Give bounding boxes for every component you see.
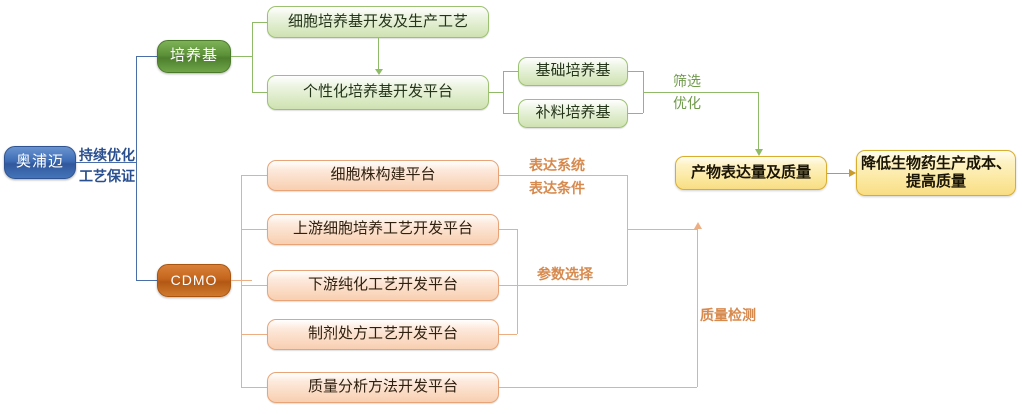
branch-head-culture-medium-label: 培养基 — [170, 47, 218, 65]
branch-head-culture-medium[interactable]: 培养基 — [157, 40, 231, 73]
connector-to-basal-medium — [503, 71, 518, 72]
connector-quality-up — [697, 229, 698, 387]
arrow-medium-into-output — [755, 149, 763, 156]
node-quality-analysis-platform[interactable]: 质量分析方法开发平台 — [267, 372, 499, 403]
connector-medium-stub — [231, 56, 252, 57]
node-product-output-quality[interactable]: 产物表达量及质量 — [675, 156, 827, 190]
connector-medium-bus — [252, 22, 253, 92]
edge-label-expression-system: 表达系统 — [529, 155, 585, 175]
connector-grandchild-bus — [503, 71, 504, 113]
connector-quality-out — [499, 387, 697, 388]
connector-formulation-out — [499, 334, 517, 335]
connector-blue-to-cdmo — [136, 280, 157, 281]
edge-label-parameter-selection: 参数选择 — [537, 264, 593, 284]
node-medium-development-process[interactable]: 细胞培养基开发及生产工艺 — [267, 6, 489, 38]
connector-cdmo-to-child-3 — [241, 285, 267, 286]
connector-medium-down-to-output — [758, 92, 759, 149]
node-feed-medium-label: 补料培养基 — [535, 104, 610, 122]
node-final-goal-label-line1: 降低生物药生产成本、 — [861, 155, 1011, 173]
node-product-output-quality-label: 产物表达量及质量 — [691, 164, 811, 182]
connector-feed-out — [628, 113, 643, 114]
connector-medium-to-child-2 — [252, 92, 267, 93]
node-feed-medium[interactable]: 补料培养基 — [518, 99, 628, 128]
node-formulation-platform[interactable]: 制剂处方工艺开发平台 — [267, 319, 499, 350]
root-node-label: 奥浦迈 — [16, 153, 64, 171]
connector-basal-out — [628, 71, 643, 72]
node-medium-development-process-label: 细胞培养基开发及生产工艺 — [288, 13, 468, 31]
connector-cdmo-to-child-1 — [241, 175, 267, 176]
connector-cdmo-to-child-4 — [241, 334, 267, 335]
arrow-cdmo-into-output — [694, 222, 702, 229]
node-custom-medium-platform-label: 个性化培养基开发平台 — [303, 83, 453, 101]
connector-mid-cluster-bus — [517, 229, 518, 334]
connector-cdmo-to-child-5 — [241, 387, 267, 388]
connector-cdmo-right-rail — [627, 175, 628, 285]
connector-mid-cluster-right — [517, 285, 627, 286]
node-cell-line-construction-platform[interactable]: 细胞株构建平台 — [267, 160, 499, 191]
connector-to-feed-medium — [503, 113, 518, 114]
node-cell-line-construction-platform-label: 细胞株构建平台 — [330, 166, 435, 184]
connector-upstream-out — [499, 229, 517, 230]
node-formulation-platform-label: 制剂处方工艺开发平台 — [308, 325, 458, 343]
connector-rail-to-output — [627, 229, 697, 230]
connector-custom-medium-stub — [489, 92, 503, 93]
edge-label-process-assurance: 工艺保证 — [79, 166, 135, 186]
node-downstream-purification-platform-label: 下游纯化工艺开发平台 — [308, 276, 458, 294]
node-basal-medium[interactable]: 基础培养基 — [518, 57, 628, 86]
arrow-medium-child1-to-child2 — [375, 69, 383, 75]
branch-head-cdmo-label: CDMO — [171, 272, 218, 289]
connector-blue-spine — [136, 56, 137, 280]
node-custom-medium-platform[interactable]: 个性化培养基开发平台 — [267, 75, 489, 110]
arrow-output-to-goal — [849, 169, 856, 177]
node-final-goal[interactable]: 降低生物药生产成本、 提高质量 — [856, 150, 1016, 196]
connector-cdmo-to-child-2 — [241, 229, 267, 230]
connector-medium-to-child-1 — [252, 22, 267, 23]
edge-label-continuous-optimization: 持续优化 — [79, 145, 135, 165]
edge-label-expression-condition: 表达条件 — [529, 178, 585, 198]
connector-cdmo-bus — [241, 175, 242, 387]
diagram-canvas: 奥浦迈 持续优化 工艺保证 培养基 细胞培养基开发及生产工艺 个性化培养基开发平… — [0, 0, 1022, 414]
node-basal-medium-label: 基础培养基 — [535, 62, 610, 80]
node-upstream-culture-platform-label: 上游细胞培养工艺开发平台 — [293, 220, 473, 238]
root-node-aopumai[interactable]: 奥浦迈 — [4, 146, 76, 179]
connector-blue-to-medium — [136, 56, 157, 57]
node-quality-analysis-platform-label: 质量分析方法开发平台 — [308, 378, 458, 396]
connector-cellline-out — [499, 175, 627, 176]
node-final-goal-label-line2: 提高质量 — [906, 173, 966, 191]
connector-medium-child1-to-child2 — [378, 38, 379, 69]
edge-label-quality-testing: 质量检测 — [700, 305, 756, 325]
node-downstream-purification-platform[interactable]: 下游纯化工艺开发平台 — [267, 270, 499, 301]
connector-output-to-goal — [827, 173, 849, 174]
edge-label-screening: 筛选 — [673, 71, 701, 91]
edge-label-optimization: 优化 — [673, 93, 701, 113]
node-upstream-culture-platform[interactable]: 上游细胞培养工艺开发平台 — [267, 214, 499, 245]
branch-head-cdmo[interactable]: CDMO — [157, 264, 231, 297]
connector-downstream-out — [499, 285, 517, 286]
